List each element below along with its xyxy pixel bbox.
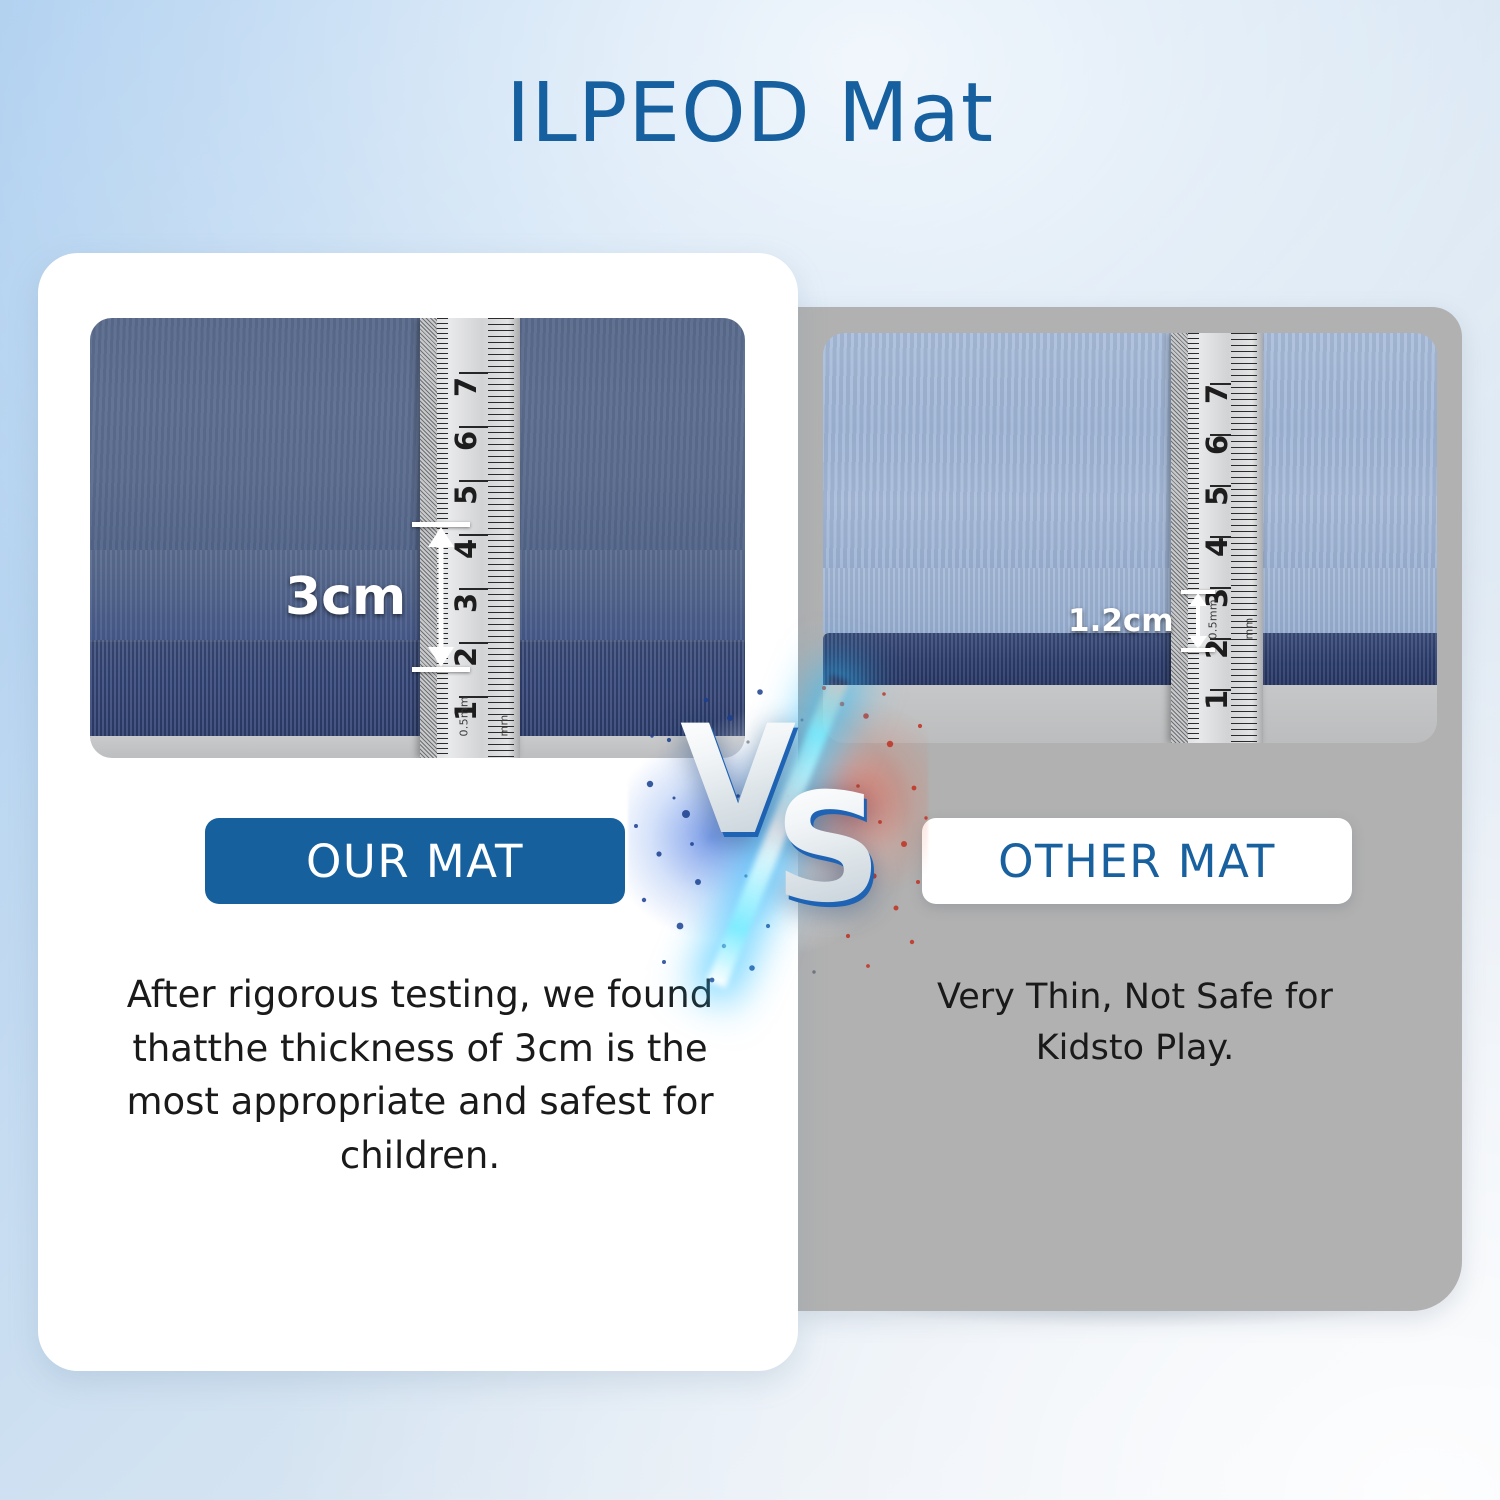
other-measurement-label: 1.2cm [1068,603,1174,639]
our-mat-badge: OUR MAT [205,818,625,904]
other-mat-description: Very Thin, Not Safe for Kidsto Play. [880,972,1390,1074]
ruler-major-tick [459,588,488,590]
ruler-number: 4 [1200,537,1234,557]
other-steel-ruler: 1 2 3 4 5 6 7 0.5mm mm [1171,333,1263,743]
our-measurement-arrow-icon [424,522,458,672]
ruler-number: 5 [449,485,483,505]
other-mat-top-surface [823,333,1437,568]
page-background: ILPEOD Mat 1 2 [0,0,1500,1500]
ruler-number: 7 [1200,384,1234,404]
ruler-caption-half-mm: 0.5mm [458,696,471,736]
ruler-major-tick [459,534,488,536]
ruler-number: 1 [1200,690,1234,710]
other-mat-photo: 1 2 3 4 5 6 7 0.5mm mm [823,333,1437,743]
other-mat-floor [823,685,1437,743]
ruler-number: 5 [1200,486,1234,506]
ruler-number: 6 [449,431,483,451]
other-mat-measurement: 1.2cm [1068,590,1210,652]
ruler-mm-scale [1231,333,1257,743]
our-measurement-label: 3cm [285,567,406,627]
ruler-major-tick [459,426,488,428]
page-title: ILPEOD Mat [0,70,1500,159]
ruler-major-tick [459,642,488,644]
our-mat-floor [90,736,745,758]
ruler-number: 6 [1200,435,1234,455]
our-mat-description: After rigorous testing, we found thatthe… [120,968,720,1183]
ruler-caption-mm: mm [498,714,511,736]
ruler-major-tick [459,372,488,374]
ruler-knurled-strip [1171,333,1188,743]
other-mat-badge: OTHER MAT [922,818,1352,904]
our-mat-measurement: 3cm [285,522,458,672]
ruler-caption-mm: mm [1243,617,1256,639]
other-measurement-arrow-icon [1186,590,1210,652]
ruler-number: 7 [449,377,483,397]
ruler-mm-scale [488,318,514,758]
our-mat-top-surface [90,318,745,550]
ruler-major-tick [459,480,488,482]
other-mat-scene: 1 2 3 4 5 6 7 0.5mm mm [823,333,1437,743]
